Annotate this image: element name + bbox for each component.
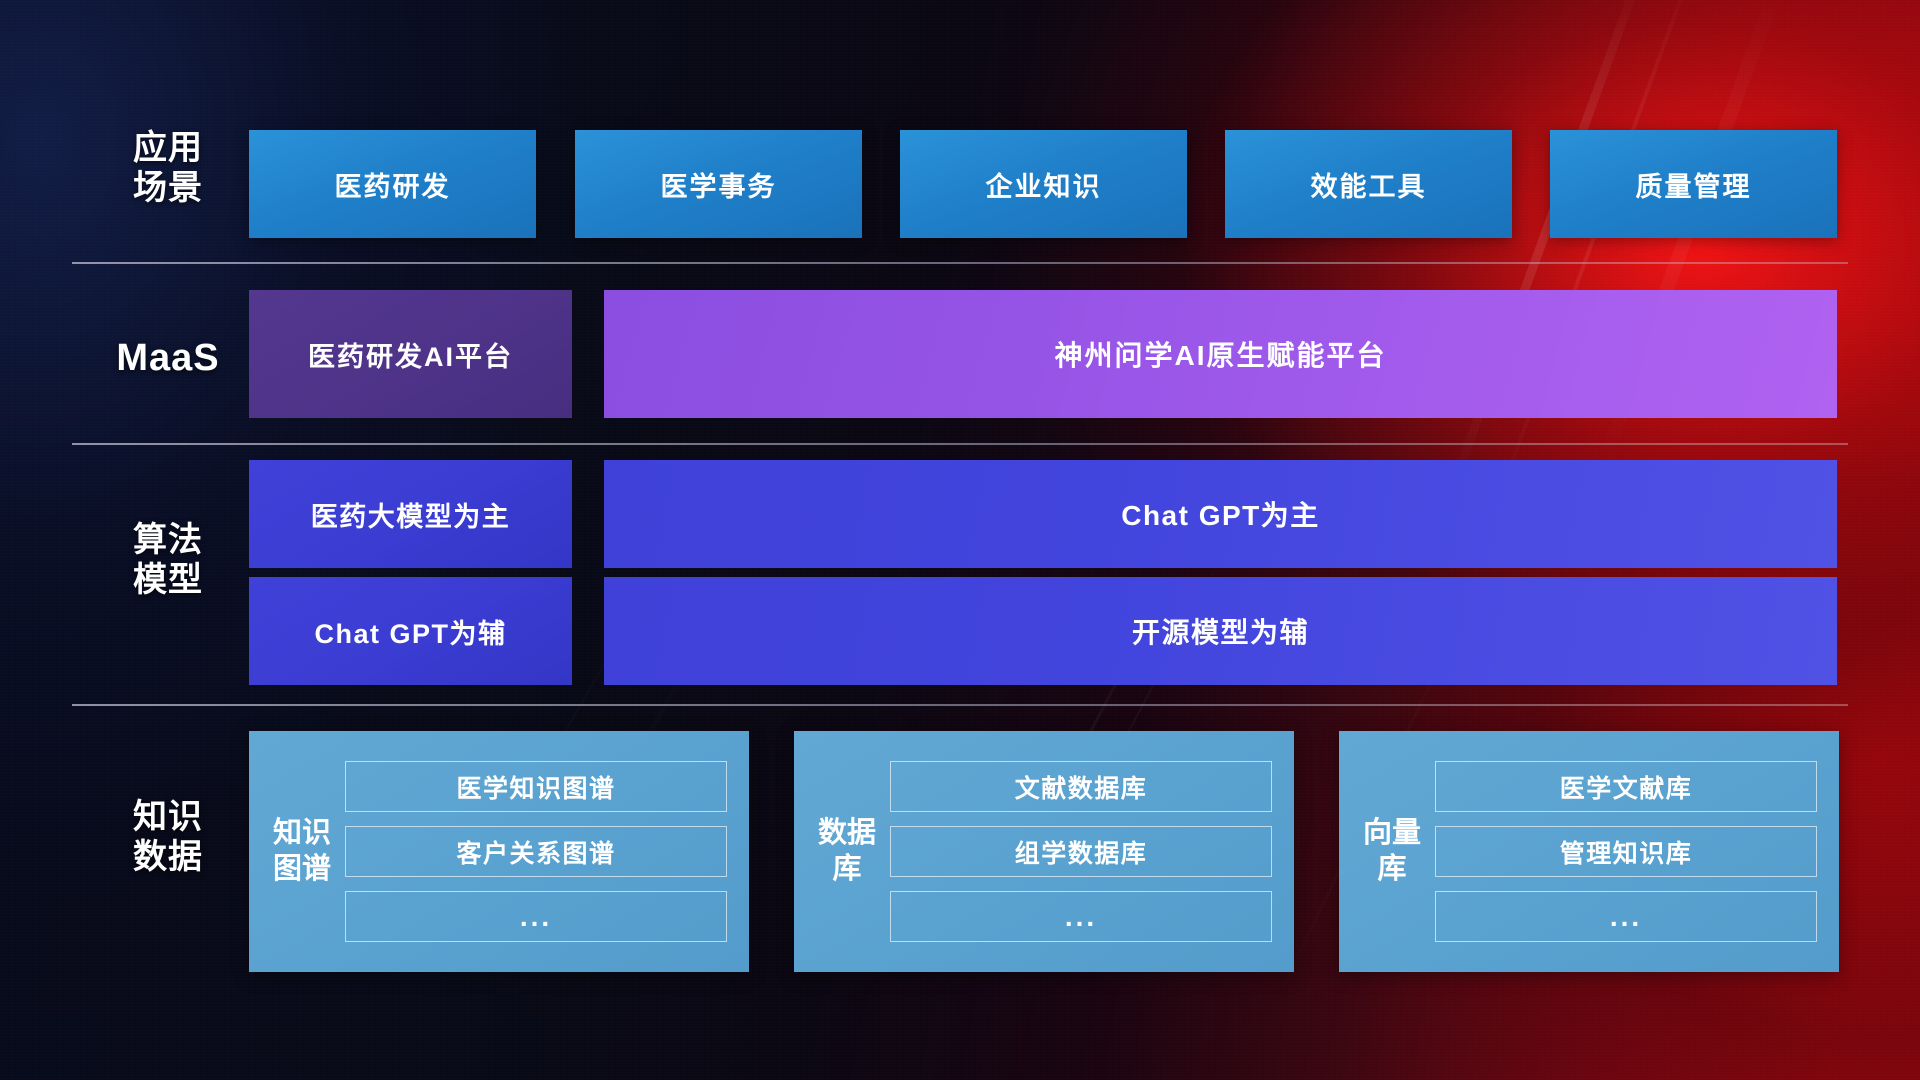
algo-box-opensource-secondary[interactable]: 开源模型为辅 <box>604 577 1837 685</box>
knowledge-panel-knowledge-graph-items: 医学知识图谱 客户关系图谱 ... <box>331 761 749 942</box>
algo-box-pharma-llm-primary-label: 医药大模型为主 <box>311 495 511 534</box>
row-label-application: 应用 场景 <box>88 128 248 208</box>
maas-box-shenzhou-wenxue-platform[interactable]: 神州问学AI原生赋能平台 <box>604 290 1837 418</box>
knowledge-item-management-knowledge-store[interactable]: 管理知识库 <box>1435 826 1817 877</box>
knowledge-item-more-2[interactable]: ... <box>890 891 1272 942</box>
app-scenario-box-4[interactable]: 效能工具 <box>1225 130 1512 238</box>
knowledge-panel-database-items: 文献数据库 组学数据库 ... <box>876 761 1294 942</box>
architecture-diagram-slide: 应用 场景 医药研发 医学事务 企业知识 效能工具 质量管理 MaaS 医药研发… <box>0 0 1920 1080</box>
app-scenario-box-1[interactable]: 医药研发 <box>249 130 536 238</box>
knowledge-item-label: 医学文献库 <box>1560 769 1693 805</box>
app-scenario-label-1: 医药研发 <box>335 165 451 204</box>
algo-box-chatgpt-secondary[interactable]: Chat GPT为辅 <box>249 577 572 685</box>
divider-algorithm-knowledge <box>72 704 1848 706</box>
row-label-algorithm-line2: 模型 <box>88 560 248 600</box>
app-scenario-label-3: 企业知识 <box>986 165 1102 204</box>
maas-box-shenzhou-wenxue-platform-label: 神州问学AI原生赋能平台 <box>1054 334 1386 374</box>
algo-box-opensource-secondary-label: 开源模型为辅 <box>1132 611 1309 651</box>
knowledge-item-label: 医学知识图谱 <box>456 769 615 805</box>
knowledge-item-medical-literature-store[interactable]: 医学文献库 <box>1435 761 1817 812</box>
knowledge-panel-vector-store[interactable]: 向量库 医学文献库 管理知识库 ... <box>1339 731 1839 972</box>
app-scenario-label-2: 医学事务 <box>661 165 777 204</box>
maas-box-pharma-ai-platform-label: 医药研发AI平台 <box>308 335 513 374</box>
knowledge-panel-knowledge-graph-label: 知识图谱 <box>273 816 331 887</box>
knowledge-panel-database-label: 数据库 <box>818 816 876 887</box>
knowledge-item-label: 管理知识库 <box>1560 834 1693 870</box>
app-scenario-box-2[interactable]: 医学事务 <box>575 130 862 238</box>
knowledge-panel-vector-store-items: 医学文献库 管理知识库 ... <box>1421 761 1839 942</box>
divider-application-maas <box>72 262 1848 264</box>
app-scenario-box-3[interactable]: 企业知识 <box>900 130 1187 238</box>
knowledge-item-more-3[interactable]: ... <box>1435 891 1817 942</box>
divider-maas-algorithm <box>72 443 1848 445</box>
knowledge-item-literature-database[interactable]: 文献数据库 <box>890 761 1272 812</box>
algo-box-pharma-llm-primary[interactable]: 医药大模型为主 <box>249 460 572 568</box>
knowledge-item-more-1[interactable]: ... <box>345 891 727 942</box>
row-label-algorithm-line1: 算法 <box>88 520 248 560</box>
knowledge-item-label: ... <box>1610 901 1642 933</box>
maas-box-pharma-ai-platform[interactable]: 医药研发AI平台 <box>249 290 572 418</box>
row-label-knowledge-line1: 知识 <box>88 797 248 837</box>
knowledge-item-label: ... <box>520 901 552 933</box>
row-label-application-line1: 应用 <box>88 128 248 168</box>
row-label-maas: MaaS <box>88 336 248 381</box>
app-scenario-box-5[interactable]: 质量管理 <box>1550 130 1837 238</box>
row-label-knowledge: 知识 数据 <box>88 797 248 877</box>
row-label-maas-text: MaaS <box>88 336 248 381</box>
knowledge-panel-knowledge-graph[interactable]: 知识图谱 医学知识图谱 客户关系图谱 ... <box>249 731 749 972</box>
knowledge-item-label: 文献数据库 <box>1015 769 1148 805</box>
knowledge-panel-vector-store-label: 向量库 <box>1363 816 1421 887</box>
knowledge-item-customer-relation-graph[interactable]: 客户关系图谱 <box>345 826 727 877</box>
knowledge-panel-database[interactable]: 数据库 文献数据库 组学数据库 ... <box>794 731 1294 972</box>
algo-box-chatgpt-secondary-label: Chat GPT为辅 <box>314 612 506 651</box>
app-scenario-label-4: 效能工具 <box>1311 165 1427 204</box>
algo-box-chatgpt-primary[interactable]: Chat GPT为主 <box>604 460 1837 568</box>
row-label-application-line2: 场景 <box>88 168 248 208</box>
algo-box-chatgpt-primary-label: Chat GPT为主 <box>1121 494 1320 534</box>
knowledge-item-label: ... <box>1065 901 1097 933</box>
knowledge-item-label: 组学数据库 <box>1015 834 1148 870</box>
knowledge-item-medical-knowledge-graph[interactable]: 医学知识图谱 <box>345 761 727 812</box>
knowledge-item-label: 客户关系图谱 <box>456 834 615 870</box>
knowledge-item-omics-database[interactable]: 组学数据库 <box>890 826 1272 877</box>
app-scenario-label-5: 质量管理 <box>1636 165 1752 204</box>
row-label-knowledge-line2: 数据 <box>88 837 248 877</box>
row-label-algorithm: 算法 模型 <box>88 520 248 600</box>
